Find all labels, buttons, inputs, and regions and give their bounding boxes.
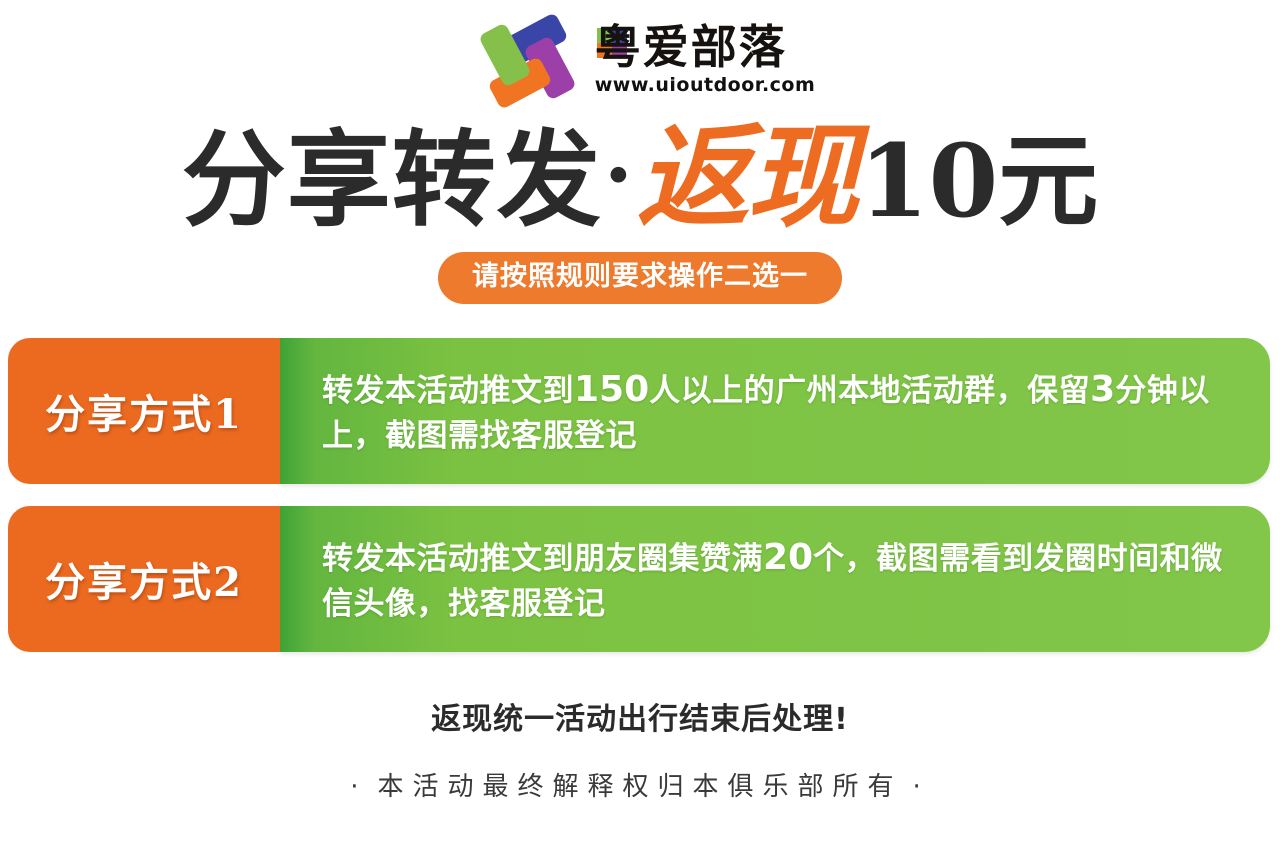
method-2-line1-a: 转发本活动推文到朋友圈集赞满 [322, 541, 763, 577]
method-1-body: 转发本活动推文到150人以上的广州本地活动群，保留3分钟以上，截图需找客服登记 [280, 338, 1270, 484]
subtitle-badge: 请按照规则要求操作二选一 [438, 252, 842, 304]
brand-wordmark: 粤爱部落 www.uioutdoor.com [595, 24, 816, 95]
disclaimer-dot-right: · [913, 772, 930, 802]
method-row-1: 分享方式1 转发本活动推文到150人以上的广州本地活动群，保留3分钟以上，截图需… [8, 338, 1270, 484]
brand-name-text: 粤爱部落 [595, 24, 787, 70]
pinwheel-logo-icon [465, 11, 577, 107]
brand-website: www.uioutdoor.com [595, 76, 816, 95]
headline-amount: 10元 [859, 122, 1098, 240]
headline-separator-dot: · [604, 125, 633, 224]
method-1-minutes: 3 [1090, 369, 1115, 410]
method-1-line1-a: 转发本活动推文到 [322, 373, 574, 409]
method-1-count: 150 [574, 369, 649, 410]
promo-poster: { "brand": { "logo_icon": "pinwheel-logo… [0, 0, 1280, 853]
method-2-line1-b: 个，截图需看到发 [813, 541, 1065, 577]
method-2-count: 20 [763, 537, 813, 578]
subtitle-row: 请按照规则要求操作二选一 [0, 252, 1280, 304]
headline-cashback: 返现 [637, 112, 857, 243]
brand-header: 粤爱部落 www.uioutdoor.com [0, 0, 1280, 118]
method-1-text: 转发本活动推文到150人以上的广州本地活动群，保留3分钟以上，截图需找客服登记 [322, 365, 1236, 457]
footer-note: 返现统一活动出行结束后处理! [0, 694, 1280, 738]
method-1-line1-b: 人以上的广州本地活动群，保留 [649, 373, 1090, 409]
disclaimer-text: 本活动最终解释权归本俱乐部所有 [377, 772, 902, 802]
method-2-text: 转发本活动推文到朋友圈集赞满20个，截图需看到发圈时间和微信头像，找客服登记 [322, 533, 1236, 625]
method-2-label: 分享方式2 [8, 506, 280, 652]
method-row-2: 分享方式2 转发本活动推文到朋友圈集赞满20个，截图需看到发圈时间和微信头像，找… [8, 506, 1270, 652]
methods-list: 分享方式1 转发本活动推文到150人以上的广州本地活动群，保留3分钟以上，截图需… [0, 338, 1280, 652]
disclaimer-dot-left: · [350, 772, 367, 802]
headline-share-forward: 分享转发 [182, 118, 602, 241]
page-title: 分享转发·返现10元 [0, 122, 1280, 234]
method-2-body: 转发本活动推文到朋友圈集赞满20个，截图需看到发圈时间和微信头像，找客服登记 [280, 506, 1270, 652]
brand-name-cn: 粤爱部落 [595, 24, 787, 70]
method-1-label: 分享方式1 [8, 338, 280, 484]
disclaimer: ·本活动最终解释权归本俱乐部所有· [0, 766, 1280, 803]
